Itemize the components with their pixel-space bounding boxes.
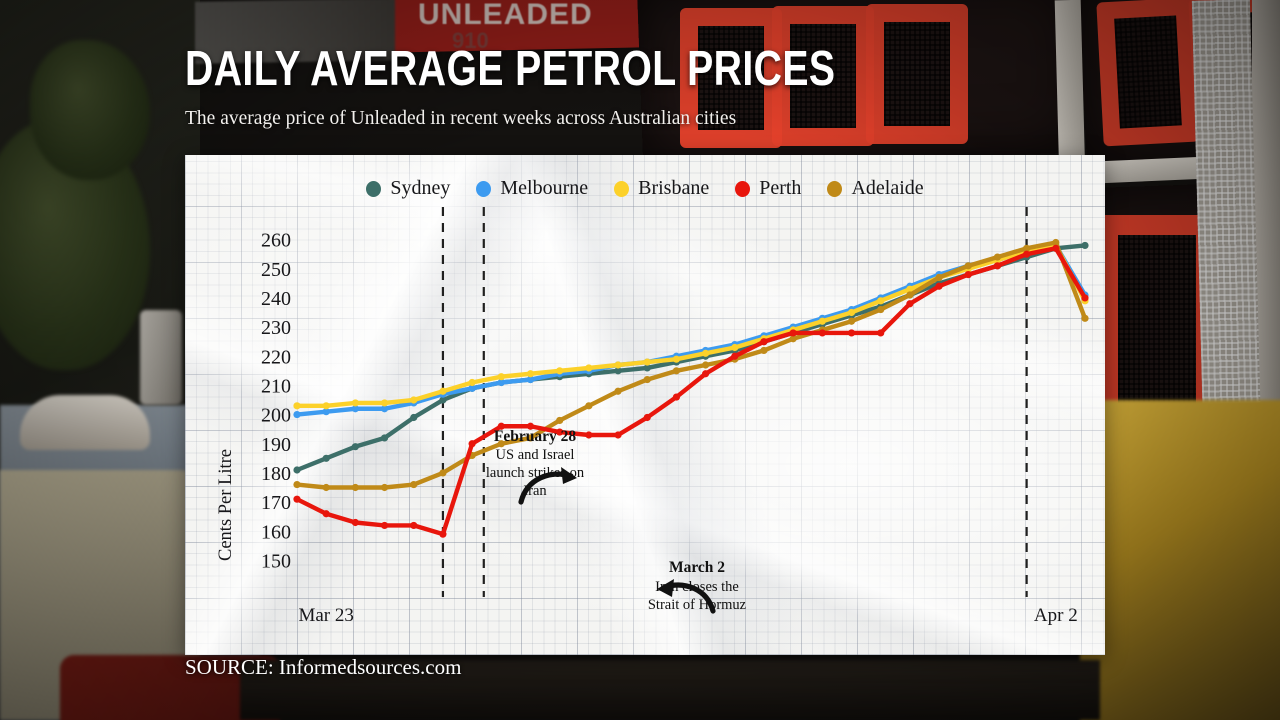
series-point-brisbane (819, 318, 826, 325)
series-point-sydney (1081, 242, 1088, 249)
series-point-adelaide (702, 361, 709, 368)
annotation-feb28-arrow-icon (517, 464, 585, 506)
series-point-adelaide (644, 376, 651, 383)
y-tick-label: 250 (261, 259, 291, 281)
y-tick-label: 160 (261, 521, 291, 543)
series-point-adelaide (410, 481, 417, 488)
annotation-mar2-title: March 2 (645, 558, 749, 577)
y-tick-label: 260 (261, 230, 291, 252)
series-point-perth (848, 329, 855, 336)
series-point-brisbane (439, 388, 446, 395)
headline-block: DAILY AVERAGE PETROL PRICES The average … (185, 45, 1085, 130)
series-point-brisbane (527, 370, 534, 377)
series-point-adelaide (556, 417, 563, 424)
y-axis-ticklabels: 150160170180190200210220230240250260 (261, 230, 291, 573)
series-point-perth (1081, 294, 1088, 301)
series-point-sydney (293, 466, 300, 473)
series-point-perth (614, 431, 621, 438)
series-point-perth (790, 329, 797, 336)
series-point-brisbane (877, 297, 884, 304)
series-point-perth (323, 510, 330, 517)
series-point-perth (994, 262, 1001, 269)
series-point-adelaide (614, 388, 621, 395)
series-point-perth (731, 353, 738, 360)
y-tick-label: 230 (261, 317, 291, 339)
series-point-adelaide (673, 367, 680, 374)
series-point-brisbane (673, 356, 680, 363)
series-point-perth (352, 519, 359, 526)
series-point-perth (935, 283, 942, 290)
y-tick-label: 170 (261, 492, 291, 514)
series-point-brisbane (614, 361, 621, 368)
series-point-brisbane (352, 399, 359, 406)
series-lines (293, 239, 1088, 538)
y-tick-label: 180 (261, 463, 291, 485)
y-tick-label: 220 (261, 346, 291, 368)
source-credit: SOURCE: Informedsources.com (185, 655, 461, 680)
series-point-brisbane (323, 402, 330, 409)
series-point-brisbane (731, 344, 738, 351)
series-point-adelaide (760, 347, 767, 354)
series-point-perth (1023, 251, 1030, 258)
x-tick-label: Mar 23 (298, 605, 353, 626)
series-point-perth (293, 496, 300, 503)
series-point-adelaide (848, 318, 855, 325)
series-point-adelaide (323, 484, 330, 491)
series-point-adelaide (877, 306, 884, 313)
series-point-adelaide (1081, 315, 1088, 322)
series-point-sydney (323, 455, 330, 462)
series-point-adelaide (585, 402, 592, 409)
x-tick-label: Apr 2 (1034, 605, 1078, 626)
series-point-brisbane (702, 350, 709, 357)
page-subtitle: The average price of Unleaded in recent … (185, 108, 1085, 130)
series-point-perth (760, 338, 767, 345)
chart-card: SydneyMelbourneBrisbanePerthAdelaide 150… (185, 155, 1105, 655)
series-point-adelaide (439, 469, 446, 476)
series-point-adelaide (965, 262, 972, 269)
series-point-adelaide (906, 291, 913, 298)
y-tick-label: 210 (261, 375, 291, 397)
series-point-brisbane (585, 364, 592, 371)
annotation-feb28-title: February 28 (481, 427, 589, 446)
page-title: DAILY AVERAGE PETROL PRICES (185, 45, 905, 94)
series-line-perth (297, 248, 1085, 534)
series-point-perth (965, 271, 972, 278)
series-point-adelaide (381, 484, 388, 491)
series-point-sydney (410, 414, 417, 421)
series-point-brisbane (498, 373, 505, 380)
series-point-brisbane (381, 399, 388, 406)
series-point-brisbane (293, 402, 300, 409)
series-point-brisbane (410, 396, 417, 403)
event-marker-lines (443, 207, 1027, 597)
y-tick-label: 150 (261, 550, 291, 572)
series-line-adelaide (297, 243, 1085, 488)
series-point-melbourne (293, 411, 300, 418)
series-point-perth (673, 393, 680, 400)
y-tick-label: 190 (261, 434, 291, 456)
series-point-perth (702, 370, 709, 377)
series-point-perth (410, 522, 417, 529)
series-point-brisbane (556, 367, 563, 374)
series-point-adelaide (935, 274, 942, 281)
series-point-sydney (381, 434, 388, 441)
series-point-adelaide (352, 484, 359, 491)
series-point-perth (469, 440, 476, 447)
series-point-perth (906, 300, 913, 307)
series-point-adelaide (293, 481, 300, 488)
series-point-perth (819, 329, 826, 336)
y-tick-label: 240 (261, 288, 291, 310)
series-point-perth (877, 329, 884, 336)
annotation-mar2-arrow-icon (651, 577, 717, 619)
series-point-brisbane (469, 379, 476, 386)
series-point-brisbane (848, 309, 855, 316)
series-point-perth (644, 414, 651, 421)
series-point-perth (1052, 245, 1059, 252)
series-point-perth (381, 522, 388, 529)
series-point-brisbane (644, 358, 651, 365)
y-tick-label: 200 (261, 405, 291, 427)
y-axis-title: Cents Per Litre (216, 449, 236, 561)
series-point-adelaide (994, 253, 1001, 260)
series-point-perth (439, 531, 446, 538)
series-point-sydney (352, 443, 359, 450)
